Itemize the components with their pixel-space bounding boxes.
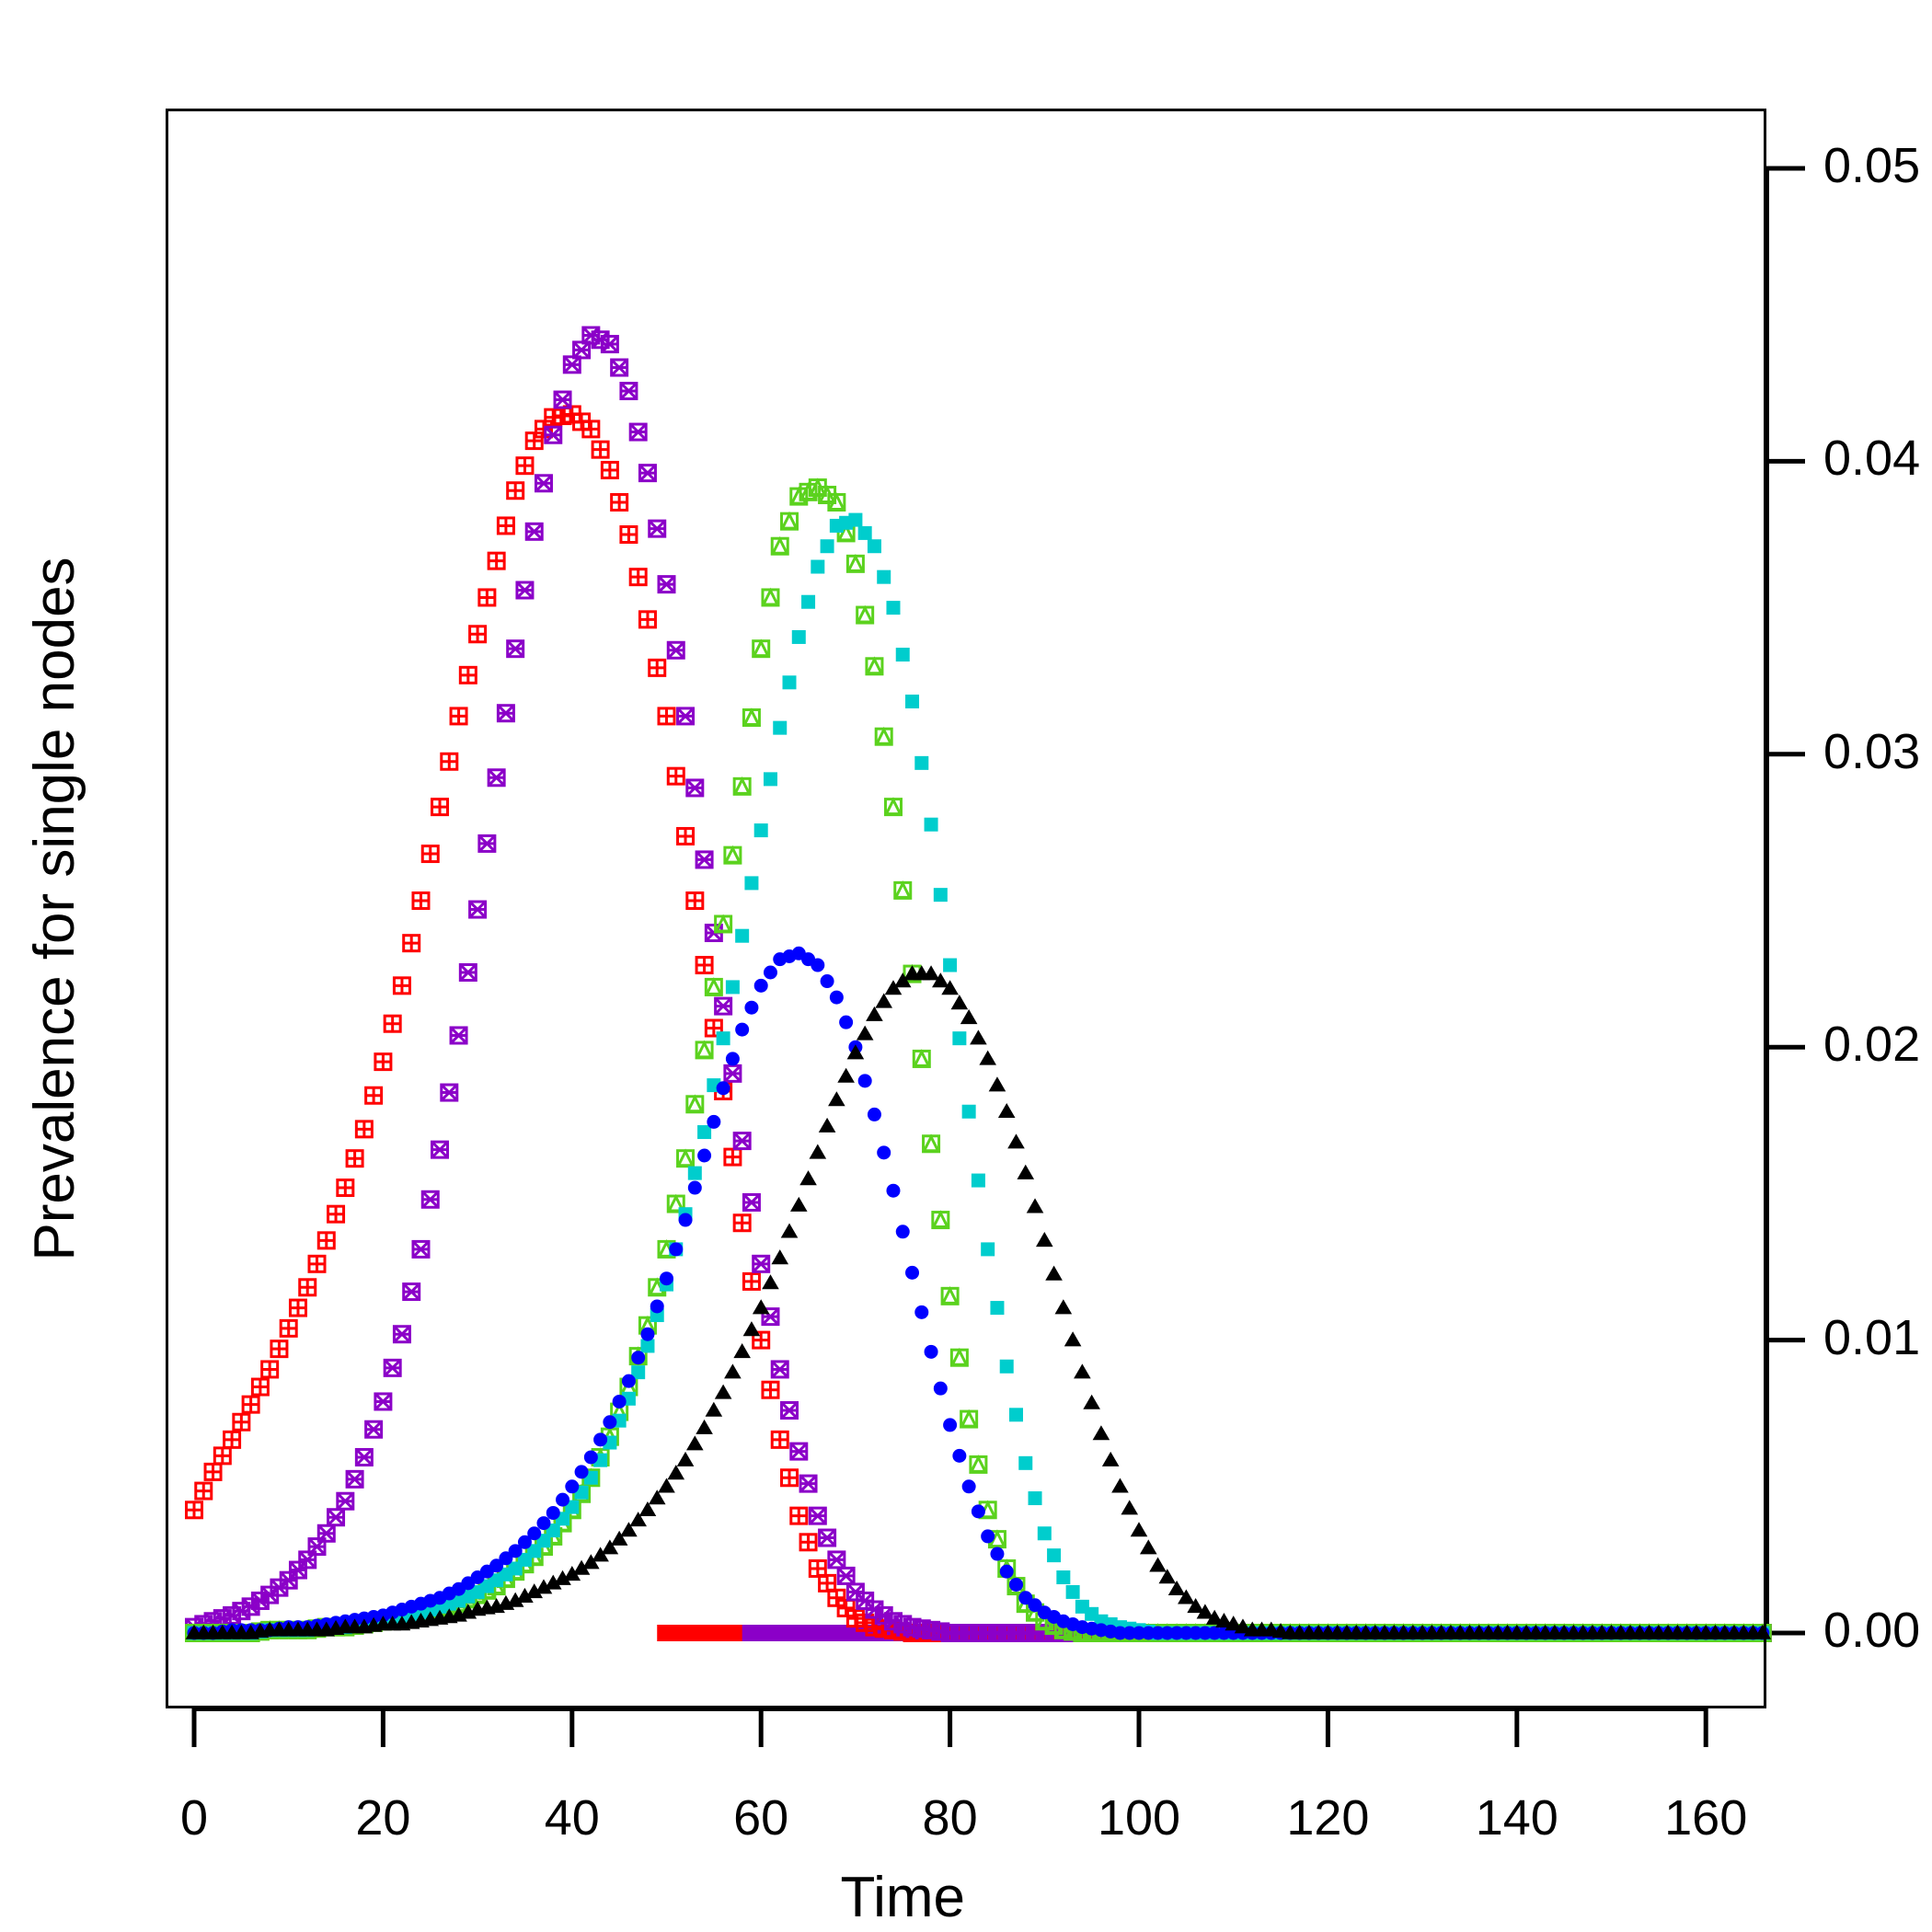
x-tick-label: 160 [1614, 1789, 1798, 1846]
y-axis-title: Prevalence for single nodes [22, 557, 87, 1260]
y-tick-label: 0.02 [1823, 1016, 1920, 1073]
plot-box-border [166, 109, 1766, 1708]
y-tick-label: 0.04 [1823, 430, 1920, 487]
x-tick-label: 140 [1425, 1789, 1609, 1846]
x-tick-label: 120 [1236, 1789, 1420, 1846]
x-tick-label: 20 [291, 1789, 475, 1846]
x-tick-label: 0 [102, 1789, 286, 1846]
x-axis-title: Time [0, 1865, 1869, 1930]
chart-root: 0.000.010.020.030.040.05 020406080100120… [0, 0, 1932, 1932]
y-tick-label: 0.05 [1823, 137, 1920, 194]
x-tick-label: 80 [858, 1789, 1042, 1846]
y-tick-label: 0.03 [1823, 723, 1920, 780]
y-tick-label: 0.01 [1823, 1309, 1920, 1366]
x-tick-label: 60 [669, 1789, 853, 1846]
x-tick-label: 40 [480, 1789, 664, 1846]
x-tick-label: 100 [1047, 1789, 1231, 1846]
y-tick-label: 0.00 [1823, 1602, 1920, 1659]
